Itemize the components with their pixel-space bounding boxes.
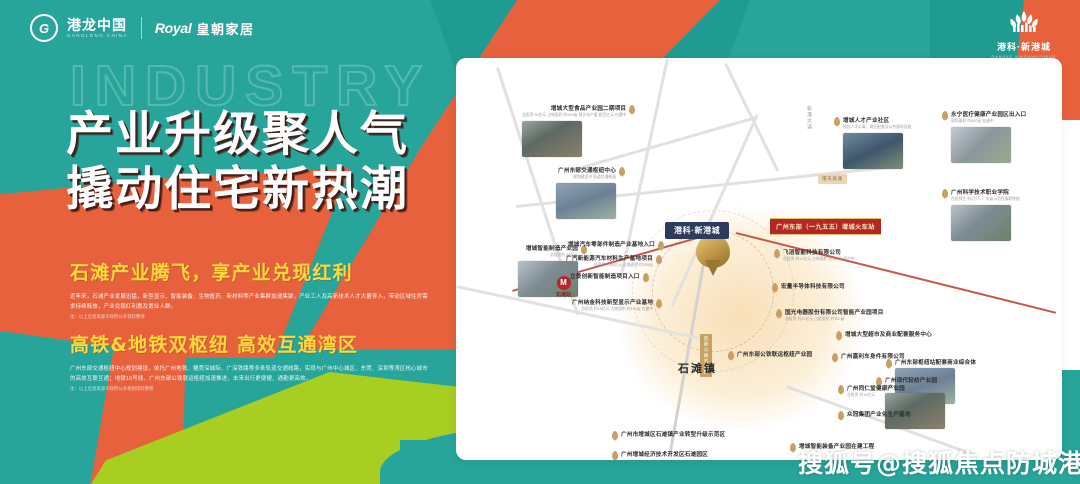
poi-subtitle: 总投资 约25亿元 占地面积 约150亩 在建中 <box>572 307 653 313</box>
poi-text: 立景创新智能制造项目入口 <box>570 272 640 280</box>
poi-title: 飞滔智能科技有限公司 <box>783 248 855 256</box>
ganglong-wordmark: 港龙中国 GANGLONG CHINA <box>67 18 128 39</box>
gold-pin-icon <box>696 234 730 268</box>
section-transit-title: 高铁&地铁双枢纽 高效互通湾区 <box>70 330 430 357</box>
project-logo-cn: 港科·新港城 <box>982 40 1066 53</box>
map-poi[interactable]: 广州同仁堂健康产业园总投资 约15亿元 <box>838 384 905 399</box>
poi-pin-icon <box>886 359 892 368</box>
project-logo-en: GANGKE XINGANGCHENG <box>982 55 1066 59</box>
poi-pin-icon <box>942 111 948 120</box>
poi-pin-icon <box>619 167 625 176</box>
poi-subtitle: 规划面积 约800亩 在建中 <box>951 119 1026 125</box>
map-poi[interactable]: 广州增城经济技术开发区石滩园区 <box>612 450 708 460</box>
poi-title: 广州增城经济技术开发区石滩园区 <box>621 450 708 458</box>
poi-pin-icon <box>656 299 662 308</box>
map-poi[interactable]: 增城智能制造产业园总投资约 80亿元 <box>518 244 587 297</box>
poi-subtitle: 规划建设中 轨道交通枢纽 <box>556 175 616 181</box>
headline-line-1: 产业升级聚人气 <box>66 108 409 163</box>
poi-pin-icon <box>772 283 778 292</box>
poi-text: 飞滔智能科技有限公司总投资 约12亿元 占地面积 约160亩 投产中 <box>783 248 855 263</box>
ganglong-name-pinyin: GANGLONG CHINA <box>67 34 128 39</box>
project-location-pin[interactable] <box>692 234 734 282</box>
town-label: 石滩镇 <box>678 360 717 376</box>
poi-title: 广州东部交通枢纽中心 <box>556 166 616 174</box>
poi-photo <box>843 133 903 169</box>
section-industry-title: 石滩产业腾飞，享产业兑现红利 <box>70 258 430 285</box>
poi-title: 国光电器股份有限公司智能产业园项目 <box>785 308 884 316</box>
poi-pin-icon <box>658 241 664 250</box>
poi-subtitle: 规划人才公寓、商业配套及公共服务设施 <box>843 125 911 131</box>
railway-station-banner: 广州东部（一九五五）增城火车站 <box>770 218 881 235</box>
map-poi[interactable]: 广州纳金科技新型显示产业基地总投资 约25亿元 占地面积 约150亩 在建中 <box>572 298 662 313</box>
poi-text: 增城大型食品产业园二期项目总投资 50亿元 占地面积 约600亩 预计年产值 超… <box>522 104 626 157</box>
location-map-card[interactable]: 新港大道 荔新公路石滩段 增天高速 M 石滩站 港科·新港城 广州东部（一九五五… <box>456 58 1062 460</box>
poi-title: 增城汽车零部件制造产业基地入口 <box>568 240 655 248</box>
map-poi[interactable]: 广州市增城区石滩镇产业转型升级示范区 <box>612 430 725 440</box>
map-poi[interactable]: 国光电器股份有限公司智能产业园项目总投资 约20亿元 占地面积 约300亩 <box>776 308 884 323</box>
royal-wordmark: Royal 皇朝家居 <box>155 19 255 38</box>
project-logo: 港科·新港城 GANGKE XINGANGCHENG <box>982 10 1066 59</box>
poi-photo <box>556 183 616 219</box>
poi-text: 广州东部公铁联运枢纽产业园 <box>737 350 812 358</box>
poi-pin-icon <box>656 255 662 264</box>
section-transit-note: 注：以上信息来源于政府公开规划资料整理 <box>70 386 430 392</box>
poi-title: 广汽新能源汽车材料生产基地项目 <box>566 254 653 262</box>
poster-canvas: G 港龙中国 GANGLONG CHINA Royal 皇朝家居 <box>0 0 1080 484</box>
map-poi[interactable]: 众冠集团产业化生产基地 <box>838 410 911 420</box>
ganglong-logo-icon: G <box>30 14 58 42</box>
poi-subtitle: 总投资 50亿元 占地面积 约600亩 预计年产值 超百亿元 在建中 <box>522 113 626 119</box>
poi-title: 广州市增城区石滩镇产业转型升级示范区 <box>621 430 725 438</box>
map-poi[interactable]: 飞滔智能科技有限公司总投资 约12亿元 占地面积 约160亩 投产中 <box>774 248 855 263</box>
map-poi[interactable]: 增城大型超市及商业配套服务中心 <box>836 330 932 340</box>
map-poi[interactable]: 增城人才产业社区规划人才公寓、商业配套及公共服务设施 <box>834 116 911 169</box>
poi-pin-icon <box>612 431 618 440</box>
poi-title: 广州东部公铁联运枢纽产业园 <box>737 350 812 358</box>
poi-pin-icon <box>838 385 844 394</box>
poi-title: 广州现代轻纺产业园 <box>885 376 945 384</box>
poi-pin-icon <box>774 249 780 258</box>
poi-title: 增城人才产业社区 <box>843 116 911 124</box>
poi-pin-icon <box>643 273 649 282</box>
poi-text: 宏量半导体科技有限公司 <box>781 282 845 290</box>
poi-text: 国光电器股份有限公司智能产业园项目总投资 约20亿元 占地面积 约300亩 <box>785 308 884 323</box>
poi-pin-icon <box>834 117 840 126</box>
ganglong-name-cn: 港龙中国 <box>67 18 128 32</box>
poi-pin-icon <box>612 451 618 460</box>
poi-text: 增城汽车零部件制造产业基地入口 <box>568 240 655 248</box>
poi-text: 广州东部交通枢纽中心规划建设中 轨道交通枢纽 <box>556 166 616 219</box>
metro-station-label: 石滩站 <box>556 291 571 298</box>
poi-photo <box>951 127 1011 163</box>
poi-subtitle: 在校师生 约2万人 广东省示范性高职院校 <box>951 197 1020 203</box>
poi-text: 增城大型超市及商业配套服务中心 <box>845 330 932 338</box>
poi-pin-icon <box>790 443 796 452</box>
poi-text: 广州纳金科技新型显示产业基地总投资 约25亿元 占地面积 约150亩 在建中 <box>572 298 653 313</box>
metro-station-marker[interactable]: M 石滩站 <box>556 276 571 298</box>
poi-title: 宏量半导体科技有限公司 <box>781 282 845 290</box>
royal-name-cn: 皇朝家居 <box>196 19 254 38</box>
hero-headline: 产业升级聚人气 撬动住宅新热潮 <box>66 108 409 217</box>
poi-text: 众冠集团产业化生产基地 <box>847 410 911 418</box>
poi-pin-icon <box>776 309 782 318</box>
map-poi[interactable]: 永宁医疗健康产业园区出入口规划面积 约800亩 在建中 <box>942 110 1026 163</box>
section-transit-body: 广州东部交通枢纽中心规划建设，依托广州地铁、穗莞深城际、广深铁路等多条轨道交通线… <box>70 364 430 384</box>
map-poi[interactable]: 增城汽车零部件制造产业基地入口 <box>568 240 664 250</box>
metro-icon: M <box>557 276 571 290</box>
poi-text: 广州同仁堂健康产业园总投资 约15亿元 <box>847 384 905 399</box>
map-poi[interactable]: 宏量半导体科技有限公司 <box>772 282 845 292</box>
poi-pin-icon <box>942 189 948 198</box>
map-poi[interactable]: 广州东部公铁联运枢纽产业园 <box>728 350 812 360</box>
poi-text: 增城人才产业社区规划人才公寓、商业配套及公共服务设施 <box>843 116 911 169</box>
poi-text: 广州增城经济技术开发区石滩园区 <box>621 450 708 458</box>
poi-pin-icon <box>832 353 838 362</box>
poi-pin-icon <box>629 105 635 114</box>
poi-title: 广州科学技术职业学院 <box>951 188 1020 196</box>
poi-subtitle: 总投资 约12亿元 占地面积 约160亩 投产中 <box>783 257 855 263</box>
map-poi[interactable]: 广州东部交通枢纽中心规划建设中 轨道交通枢纽 <box>556 166 625 219</box>
map-poi[interactable]: 增城大型食品产业园二期项目总投资 50亿元 占地面积 约600亩 预计年产值 超… <box>522 104 635 157</box>
map-poi[interactable]: 广汽新能源汽车材料生产基地项目总投资 约30亿元 占地面积 约200亩 <box>566 254 662 269</box>
source-watermark: 搜狐号@搜狐焦点防城港站 <box>798 444 1080 480</box>
project-map-label: 港科·新港城 <box>665 222 729 239</box>
section-industry-body: 近年来，石滩产业发展迅猛，新型显示、智能装备、生物医药、新材料等产业集群加速集聚… <box>70 292 430 312</box>
map-poi[interactable]: 立景创新智能制造项目入口 <box>570 272 649 282</box>
poi-photo <box>951 205 1011 241</box>
poi-text: 广州科学技术职业学院在校师生 约2万人 广东省示范性高职院校 <box>951 188 1020 241</box>
poi-pin-icon <box>836 331 842 340</box>
brand-divider <box>141 17 142 39</box>
brand-lockup: G 港龙中国 GANGLONG CHINA Royal 皇朝家居 <box>30 14 255 42</box>
royal-name-en: Royal <box>155 20 192 36</box>
section-transit: 高铁&地铁双枢纽 高效互通湾区 广州东部交通枢纽中心规划建设，依托广州地铁、穗莞… <box>70 330 430 392</box>
lotus-skyline-icon <box>997 10 1051 34</box>
poi-title: 广州东部枢纽站配套商业综合体 <box>895 358 976 366</box>
highway-tag-zengtian: 增天高速 <box>818 174 847 184</box>
headline-line-2: 撬动住宅新热潮 <box>66 163 409 218</box>
poi-subtitle: 总投资 约20亿元 占地面积 约300亩 <box>785 317 884 323</box>
poi-title: 广州纳金科技新型显示产业基地 <box>572 298 653 306</box>
poi-photo <box>522 121 582 157</box>
poi-title: 增城大型超市及商业配套服务中心 <box>845 330 932 338</box>
poi-text: 广州市增城区石滩镇产业转型升级示范区 <box>621 430 725 438</box>
section-industry-note: 注：以上信息来源于政府公开资料整理 <box>70 314 430 320</box>
map-poi[interactable]: 广州科学技术职业学院在校师生 约2万人 广东省示范性高职院校 <box>942 188 1020 241</box>
poi-title: 众冠集团产业化生产基地 <box>847 410 911 418</box>
road-label-xingang: 新港大道 <box>806 106 813 130</box>
poi-title: 立景创新智能制造项目入口 <box>570 272 640 280</box>
poi-subtitle: 总投资 约15亿元 <box>847 393 905 399</box>
poi-text: 永宁医疗健康产业园区出入口规划面积 约800亩 在建中 <box>951 110 1026 163</box>
poi-title: 广州同仁堂健康产业园 <box>847 384 905 392</box>
poi-text: 广汽新能源汽车材料生产基地项目总投资 约30亿元 占地面积 约200亩 <box>566 254 653 269</box>
poi-pin-icon <box>838 411 844 420</box>
poi-title: 永宁医疗健康产业园区出入口 <box>951 110 1026 118</box>
poi-subtitle: 总投资 约30亿元 占地面积 约200亩 <box>566 263 653 269</box>
poi-pin-icon <box>728 351 734 360</box>
poi-title: 增城大型食品产业园二期项目 <box>522 104 626 112</box>
section-industry: 石滩产业腾飞，享产业兑现红利 近年来，石滩产业发展迅猛，新型显示、智能装备、生物… <box>70 258 430 320</box>
